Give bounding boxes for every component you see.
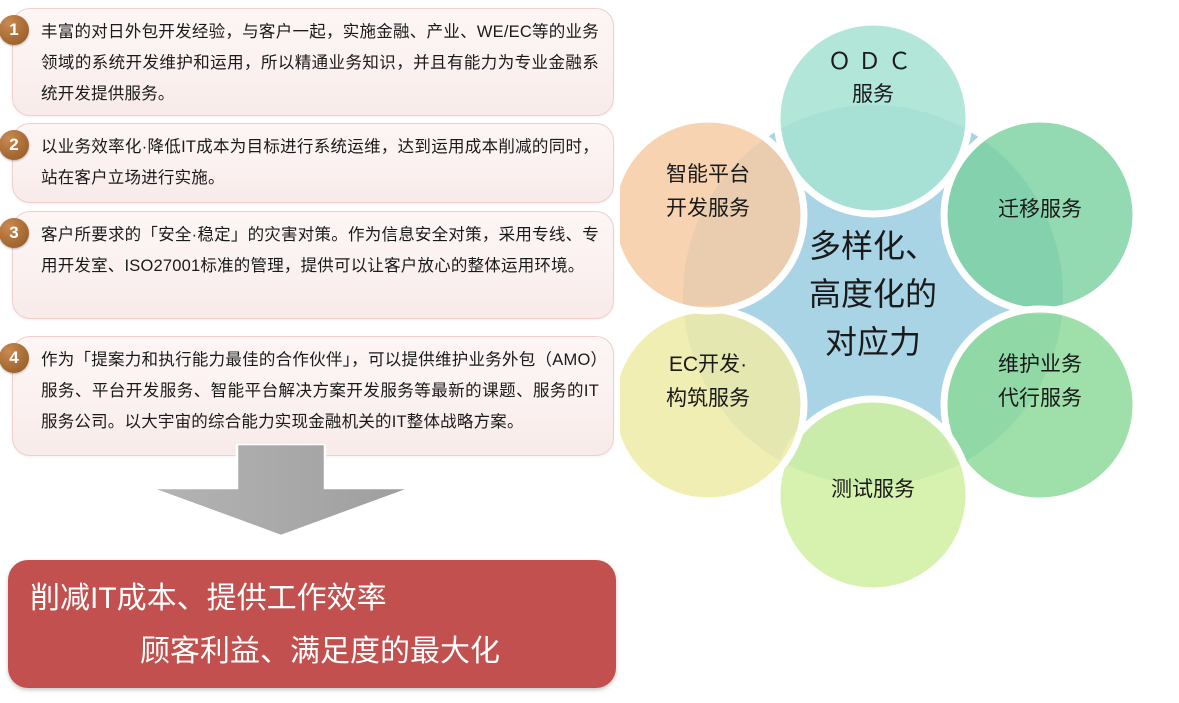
callout-text-1: 丰富的对日外包开发经验，与客户一起，实施金融、产业、WE/EC等的业务领域的系统… bbox=[41, 17, 599, 110]
venn-petal-odc bbox=[777, 22, 969, 214]
result-line-1: 削减IT成本、提供工作效率 bbox=[30, 572, 594, 625]
callout-box-3: 3 客户所要求的「安全·稳定」的灾害对策。作为信息安全对策，采用专线、专用开发室… bbox=[12, 211, 614, 319]
venn-diagram: ＯＤＣ 服务 迁移服务 维护业务 代行服务 测试服务 EC开发· 构筑服务 智能… bbox=[620, 0, 1179, 620]
callout-number-badge-4: 4 bbox=[0, 343, 29, 373]
callout-box-1: 1 丰富的对日外包开发经验，与客户一起，实施金融、产业、WE/EC等的业务领域的… bbox=[12, 8, 614, 116]
venn-petal-ec-development bbox=[620, 309, 804, 501]
venn-petal-migration bbox=[944, 119, 1136, 311]
callout-number-badge-3: 3 bbox=[0, 218, 29, 248]
callout-number-badge-1: 1 bbox=[0, 15, 29, 45]
callout-text-4: 作为「提案力和执行能力最佳的合作伙伴」，可以提供维护业务外包（AMO）服务、平台… bbox=[41, 345, 599, 438]
venn-petal-smart-platform bbox=[620, 119, 804, 311]
callout-text-2: 以业务效率化·降低IT成本为目标进行系统运维，达到运用成本削减的同时，站在客户立… bbox=[41, 132, 599, 194]
arrow-shape bbox=[150, 444, 412, 536]
result-banner: 削减IT成本、提供工作效率 顾客利益、满足度的最大化 bbox=[8, 560, 616, 688]
callout-box-2: 2 以业务效率化·降低IT成本为目标进行系统运维，达到运用成本削减的同时，站在客… bbox=[12, 123, 614, 203]
callout-box-4: 4 作为「提案力和执行能力最佳的合作伙伴」，可以提供维护业务外包（AMO）服务、… bbox=[12, 336, 614, 456]
result-line-2: 顾客利益、满足度的最大化 bbox=[30, 625, 594, 678]
callout-text-3: 客户所要求的「安全·稳定」的灾害对策。作为信息安全对策，采用专线、专用开发室、I… bbox=[41, 220, 599, 282]
callout-number-badge-2: 2 bbox=[0, 130, 29, 160]
venn-petal-testing bbox=[777, 399, 969, 591]
venn-petal-maintenance bbox=[944, 309, 1136, 501]
down-arrow-icon bbox=[146, 444, 416, 538]
